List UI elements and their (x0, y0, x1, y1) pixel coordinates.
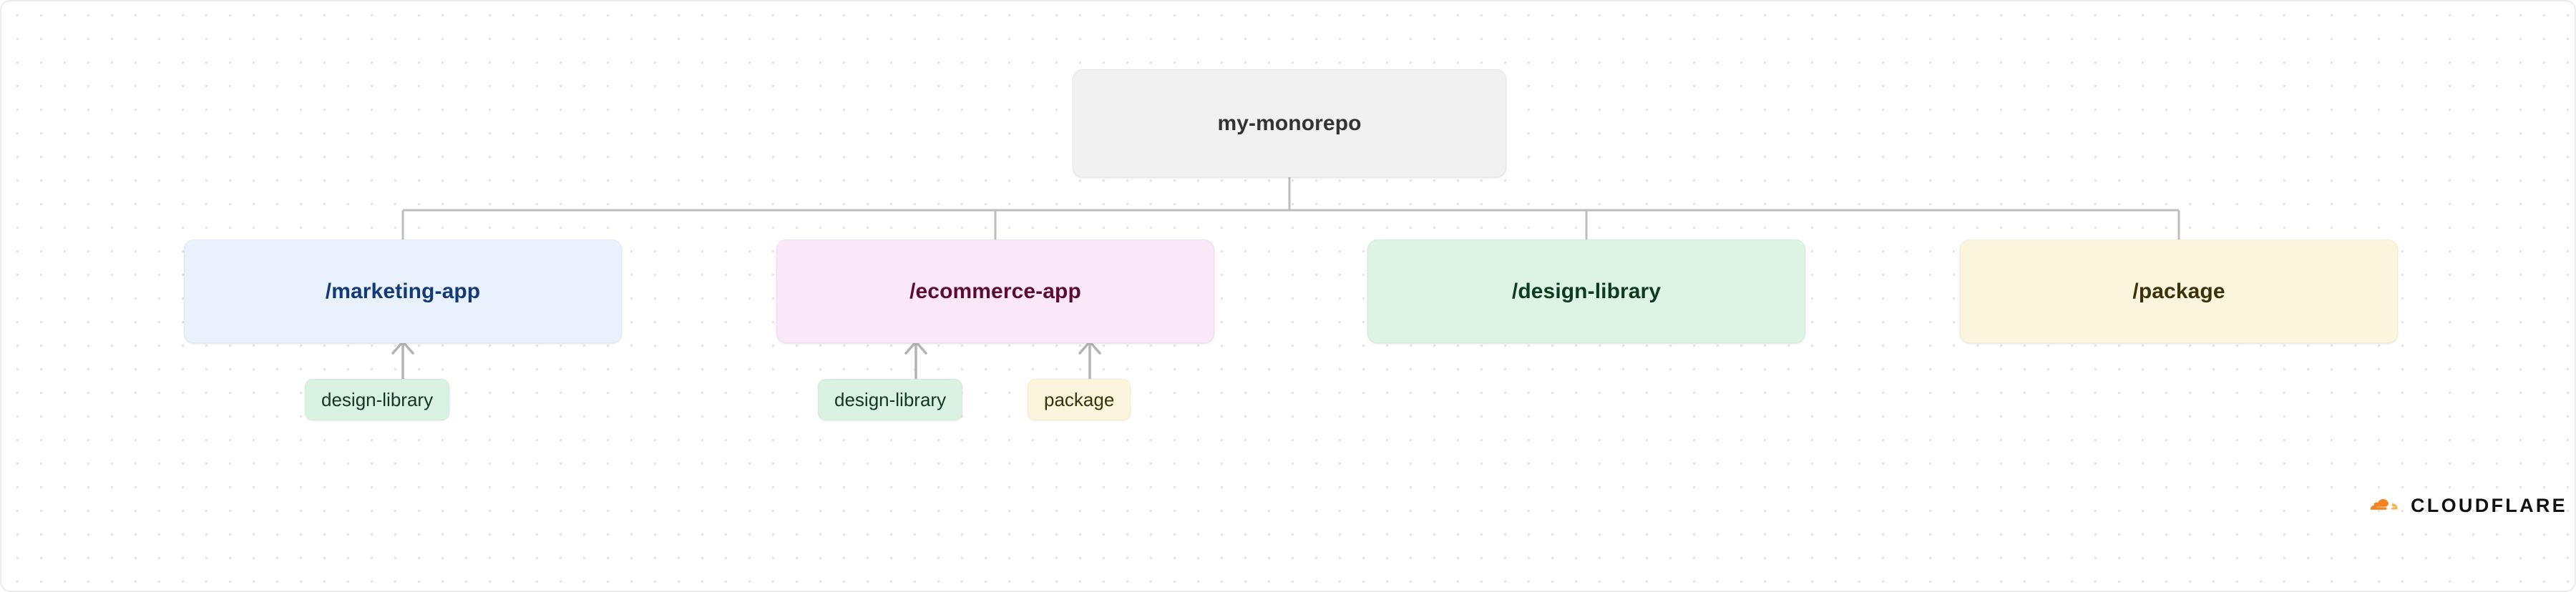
dependency-pill-label: design-library (834, 389, 946, 411)
node-design-library[interactable]: /design-library (1367, 240, 1805, 343)
node-root-label: my-monorepo (1217, 112, 1361, 136)
node-marketing-app[interactable]: /marketing-app (184, 240, 622, 343)
dependency-pill-label: package (1044, 389, 1114, 411)
node-package-label: /package (2132, 280, 2225, 304)
node-package[interactable]: /package (1960, 240, 2398, 343)
dependency-pill-marketing-design-library[interactable]: design-library (305, 379, 449, 420)
cloudflare-wordmark: CLOUDFLARE (2411, 496, 2567, 515)
node-root[interactable]: my-monorepo (1073, 69, 1506, 177)
dependency-pill-ecommerce-design-library[interactable]: design-library (818, 379, 962, 420)
cloudflare-cloud-icon (2358, 493, 2402, 518)
arrow-head-ecommerce-design-library (906, 342, 926, 353)
node-ecommerce-app-label: /ecommerce-app (909, 280, 1081, 304)
arrow-head-marketing-design-library (393, 342, 413, 353)
cloudflare-logo: CLOUDFLARE (2358, 493, 2567, 518)
diagram-canvas: my-monorepo /marketing-app /ecommerce-ap… (0, 0, 2576, 592)
node-marketing-app-label: /marketing-app (326, 280, 480, 304)
arrow-head-ecommerce-package (1080, 342, 1100, 353)
dependency-pill-ecommerce-package[interactable]: package (1028, 379, 1131, 420)
node-design-library-label: /design-library (1512, 280, 1661, 304)
node-ecommerce-app[interactable]: /ecommerce-app (776, 240, 1214, 343)
dependency-pill-label: design-library (321, 389, 433, 411)
